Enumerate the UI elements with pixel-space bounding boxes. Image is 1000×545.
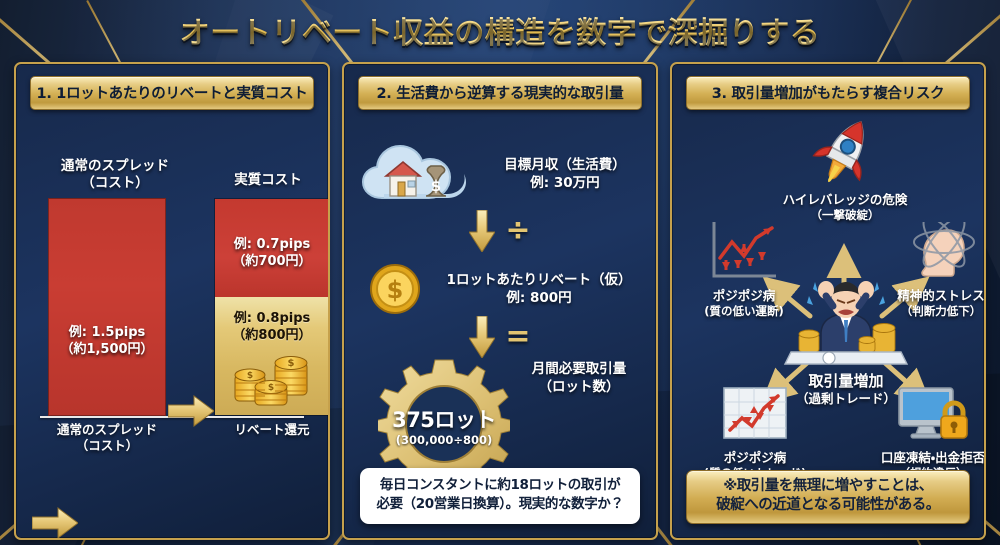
panel-rebate-vs-cost: 1. 1ロットあたりのリベートと実質コスト 通常のスプレッド （コスト） 実質コ… (14, 62, 330, 540)
panel-row: 1. 1ロットあたりのリベートと実質コスト 通常のスプレッド （コスト） 実質コ… (0, 62, 1000, 540)
gear-formula: (300,000÷800) (378, 433, 510, 447)
panel2-operator1: ÷ (354, 210, 646, 252)
panel1-callout-text: 1ロット取引で、 実質コストが約半分に削減！ (84, 502, 299, 540)
panel1-right-label: 実質コスト (198, 172, 330, 189)
panel2-heading: 2. 生活費から逆算する現実的な取引量 (358, 76, 642, 110)
gear-lot-value: 375ロット (378, 404, 510, 434)
monitor-lock-icon (893, 384, 973, 446)
panel1-bar-chart: 例: 1.5pips （約1,500円） (26, 198, 318, 416)
svg-text:$: $ (387, 276, 404, 304)
bar-rebate-value: 例: 0.8pips （約800円） (215, 311, 329, 345)
panel1-left-label-line2: （コスト） (40, 175, 190, 192)
panel1-body: 通常のスプレッド （コスト） 実質コスト 例: 1.5pips （約1,500円… (26, 110, 318, 530)
panel-required-volume: 2. 生活費から逆算する現実的な取引量 (342, 62, 658, 540)
svg-text:$: $ (288, 358, 295, 369)
down-arrow-icon (469, 316, 495, 358)
panel2-step2: $ 1ロットあたりリベート（仮） 例: 800円 (354, 262, 646, 316)
panel1-footer-left: 通常のスプレッド （コスト） (36, 422, 178, 453)
red-chart-grid-arrows-icon (720, 384, 790, 446)
panel1-left-label: 通常のスプレッド （コスト） (40, 158, 190, 192)
gold-coin-icon: $ (368, 262, 422, 316)
cloud-house-moneybag-icon: $ (358, 132, 474, 216)
poster-title-wrap: オートリベート収益の構造を数字で深掘りする (0, 8, 1000, 52)
bar-normal-spread: 例: 1.5pips （約1,500円） (48, 198, 166, 416)
risk-node-account-freeze: 口座凍結・出金拒否 （規約違反） (862, 384, 986, 480)
equals-symbol: = (505, 322, 530, 352)
panel2-step1: $ 目標月収（生活費） 例: 30万円 (358, 132, 650, 216)
panel2-step3-label: 月間必要取引量 （ロット数） (504, 360, 654, 396)
panel3-body: ハイレバレッジの危険 （一撃破綻） (682, 110, 974, 530)
divide-symbol: ÷ (505, 216, 530, 246)
page-title: オートリベート収益の構造を数字で深掘りする (180, 8, 821, 52)
stressed-head-icon (904, 222, 978, 284)
stressed-trader-coins-icon (781, 276, 911, 368)
panel2-gear-text: 375ロット (300,000÷800) (378, 404, 510, 447)
panel3-warning: ※取引量を無理に増やすことは、 破綻への近道となる可能性がある。 (686, 470, 970, 524)
bar-effective-cost-value: 例: 0.7pips （約700円） (215, 237, 329, 271)
panel1-heading: 1. 1ロットあたりのリベートと実質コスト (30, 76, 314, 110)
coin-stack-icon: $ $ $ (229, 347, 315, 409)
panel2-note: 毎日コンスタントに約18ロットの取引が 必要（20営業日換算）。現実的な数字か？ (360, 468, 640, 524)
bar-effective-cost: 例: 0.7pips （約700円） 例: 0.8pips （約800円） (214, 198, 330, 416)
panel3-heading: 3. 取引量増加がもたらす複合リスク (686, 76, 970, 110)
risk-node-leverage: ハイレバレッジの危険 （一撃破綻） (770, 116, 920, 222)
panel-compound-risk: 3. 取引量増加がもたらす複合リスク (670, 62, 986, 540)
transform-arrow-icon (168, 394, 214, 428)
svg-text:$: $ (431, 177, 441, 195)
panel2-step2-label: 1ロットあたりリベート（仮） 例: 800円 (432, 271, 646, 307)
svg-text:$: $ (247, 371, 253, 381)
rocket-icon (812, 116, 878, 188)
risk-node-overtrading-bottom: ポジポジ病 (質の低いトレード) (684, 384, 826, 480)
bar-normal-spread-value: 例: 1.5pips （約1,500円） (49, 325, 165, 359)
down-arrow-icon (469, 210, 495, 252)
svg-text:$: $ (268, 383, 274, 393)
red-chart-arrows-icon (706, 218, 782, 284)
panel1-footer-right: リベート還元 (206, 422, 330, 438)
panel2-step1-label: 目標月収（生活費） 例: 30万円 (480, 156, 650, 192)
infographic-poster: オートリベート収益の構造を数字で深掘りする 1. 1ロットあたりのリベートと実質… (0, 0, 1000, 545)
panel1-callout: 1ロット取引で、 実質コストが約半分に削減！ (32, 502, 312, 540)
panel2-operator2: = (354, 316, 646, 358)
callout-arrow-icon (32, 506, 78, 540)
panel2-body: $ 目標月収（生活費） 例: 30万円 ÷ (354, 110, 646, 530)
panel1-left-label-line1: 通常のスプレッド (40, 158, 190, 175)
